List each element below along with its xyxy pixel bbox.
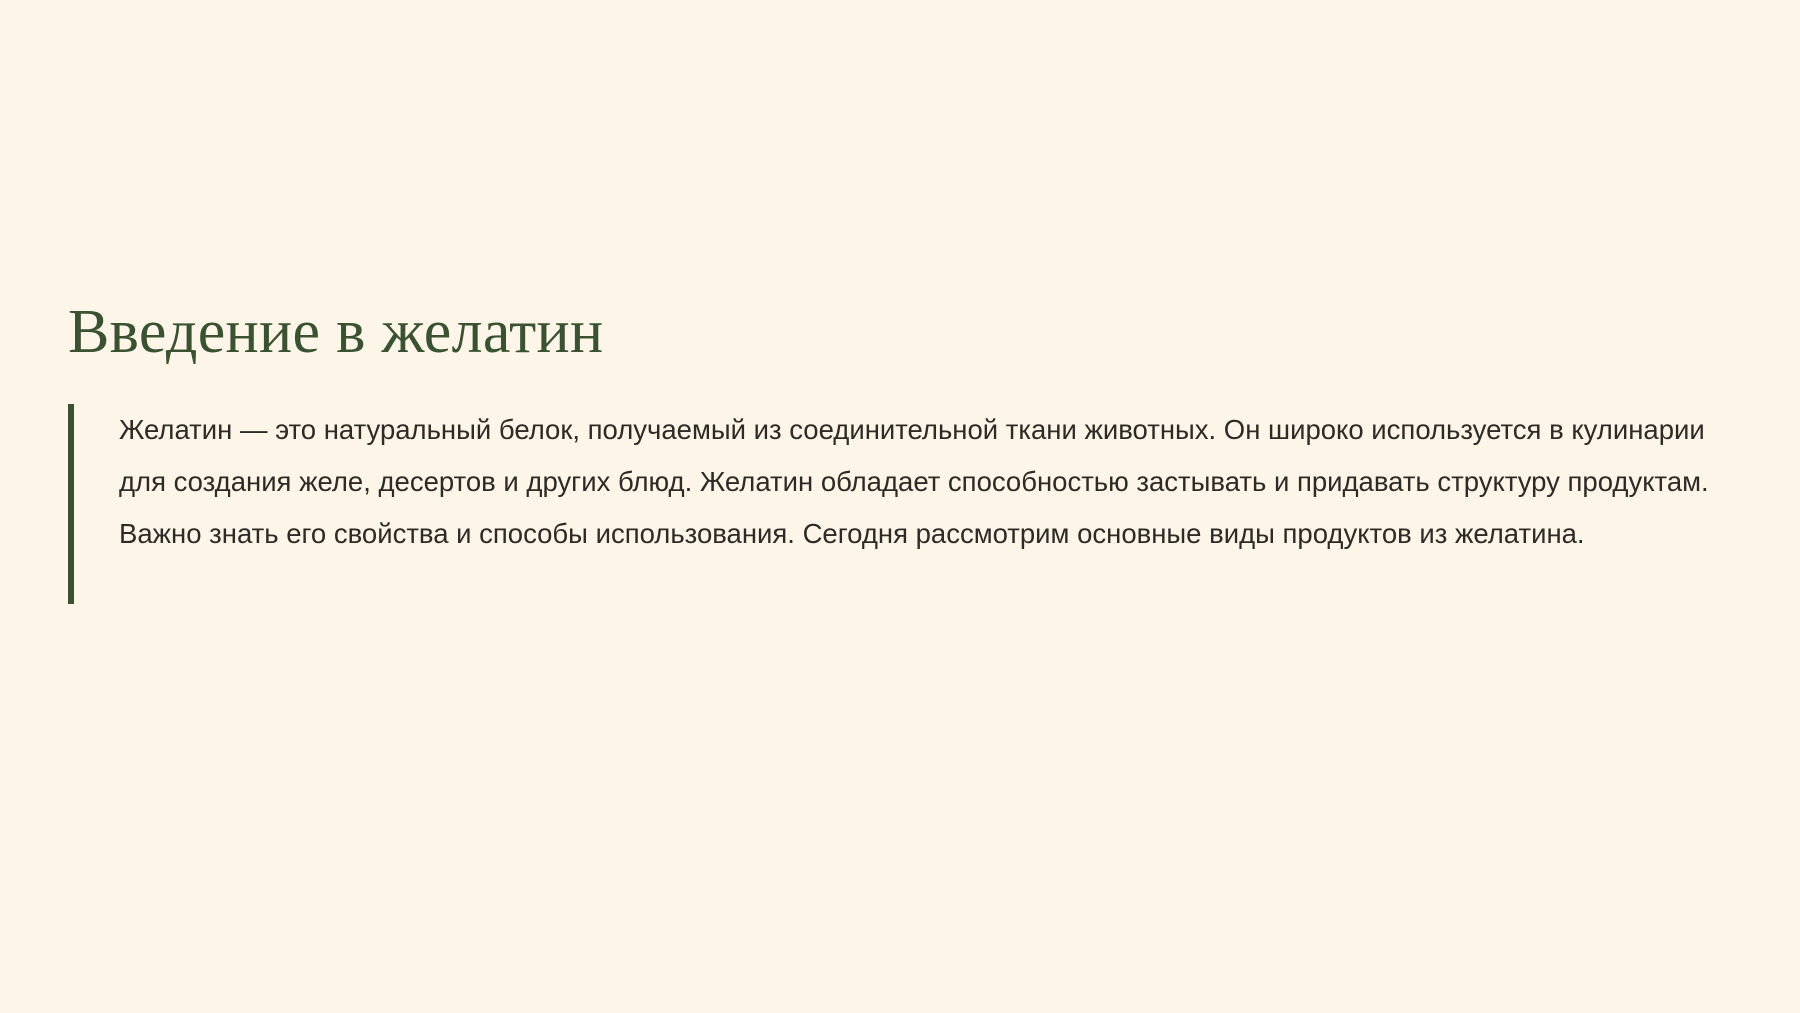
body-paragraph: Желатин — это натуральный белок, получае… xyxy=(119,404,1759,560)
accent-bar xyxy=(68,404,74,604)
page-title: Введение в желатин xyxy=(68,300,1758,366)
slide-canvas: Введение в желатин Желатин — это натурал… xyxy=(0,0,1800,1013)
slide-content-block: Введение в желатин Желатин — это натурал… xyxy=(68,300,1758,560)
quote-block: Желатин — это натуральный белок, получае… xyxy=(68,404,1758,560)
